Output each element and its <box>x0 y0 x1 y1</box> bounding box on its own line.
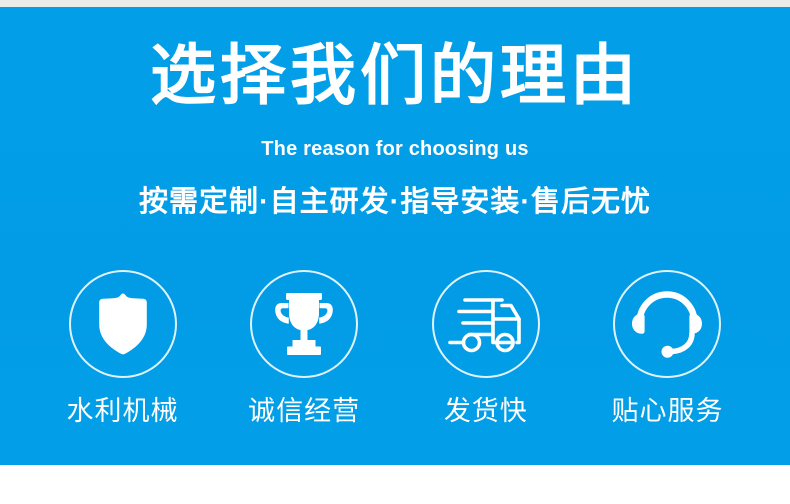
feature-list: 水利机械 <box>32 270 758 440</box>
feature-item-shield: 水利机械 <box>32 270 213 427</box>
feature-icon-circle <box>69 270 177 378</box>
feature-icon-circle <box>432 270 540 378</box>
promo-banner: 选择我们的理由 The reason for choosing us 按需定制·… <box>0 0 790 504</box>
feature-item-trophy: 诚信经营 <box>214 270 395 427</box>
page-subtitle: The reason for choosing us <box>0 136 790 162</box>
page-tagline: 按需定制·自主研发·指导安装·售后无忧 <box>0 181 790 223</box>
feature-item-service: 贴心服务 <box>577 270 758 427</box>
top-edge-strip <box>0 0 790 7</box>
feature-icon-circle <box>250 270 358 378</box>
feature-label: 贴心服务 <box>611 395 723 427</box>
feature-label: 发货快 <box>444 395 528 427</box>
feature-icon-circle <box>613 270 721 378</box>
page-title: 选择我们的理由 <box>0 36 790 114</box>
delivery-truck-icon <box>447 293 525 355</box>
trophy-icon <box>270 291 338 357</box>
feature-label: 诚信经营 <box>248 395 360 427</box>
headset-icon <box>630 290 704 358</box>
shield-icon <box>92 291 154 357</box>
feature-label: 水利机械 <box>67 395 179 427</box>
feature-item-delivery: 发货快 <box>395 270 576 427</box>
bottom-edge-strip <box>0 465 790 504</box>
